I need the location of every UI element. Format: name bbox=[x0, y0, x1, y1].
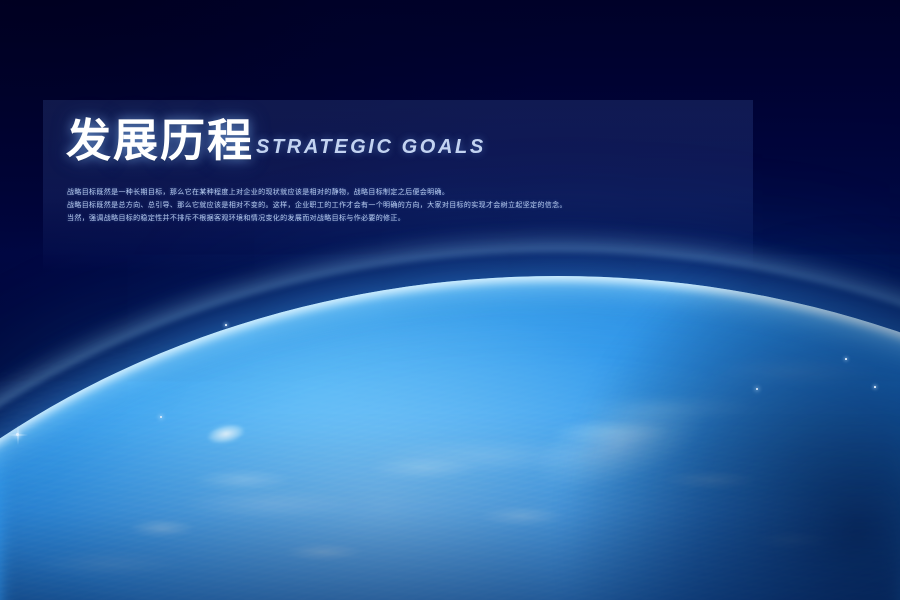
body-line: 战略目标既然是一种长期目标，那么它在某种程度上对企业的现状就应该是相对的静物，战… bbox=[67, 186, 727, 199]
headline-group: 发展历程 STRATEGIC GOALS bbox=[66, 118, 486, 163]
body-line: 当然，强调战略目标的稳定性并不排斥不根据客观环境和情况变化的发展而对战略目标与作… bbox=[67, 212, 727, 225]
body-line: 战略目标既然是总方向、总引导、那么它就应该是相对不变的。这样，企业职工的工作才会… bbox=[67, 199, 727, 212]
night-sky-background bbox=[0, 0, 900, 600]
body-paragraph: 战略目标既然是一种长期目标，那么它在某种程度上对企业的现状就应该是相对的静物，战… bbox=[67, 186, 727, 225]
banner-stage: 发展历程 STRATEGIC GOALS 战略目标既然是一种长期目标，那么它在某… bbox=[0, 0, 900, 600]
page-title: 发展历程 bbox=[66, 118, 254, 163]
page-subtitle: STRATEGIC GOALS bbox=[256, 137, 486, 157]
